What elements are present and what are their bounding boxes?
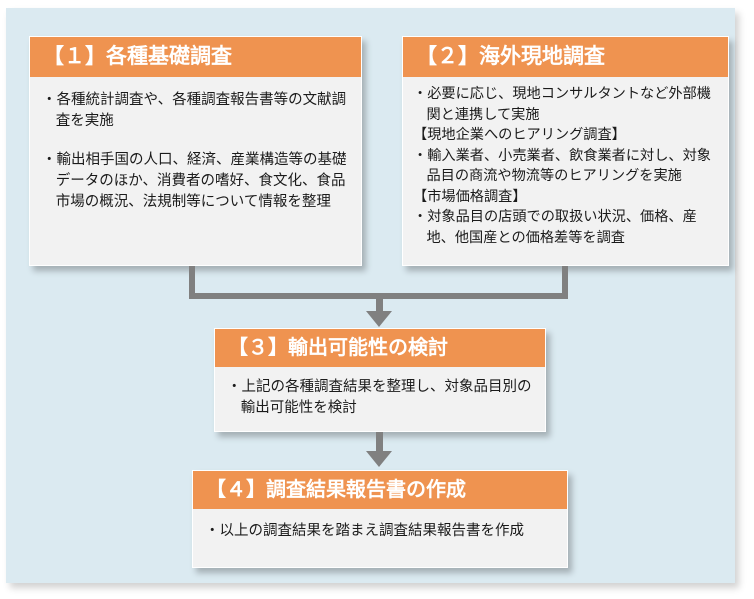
node-box-2-line-1: ・必要に応じ、現地コンサルタントなど外部機関と連携して実施 bbox=[413, 84, 718, 125]
node-box-3-body: ・上記の各種調査結果を整理し、対象品目別の輸出可能性を検討 bbox=[215, 367, 545, 431]
node-box-1-line-2: ・輸出相手国の人口、経済、産業構造等の基礎データのほか、消費者の嗜好、食文化、食… bbox=[42, 150, 349, 213]
node-box-3[interactable]: 【３】輸出可能性の検討 ・上記の各種調査結果を整理し、対象品目別の輸出可能性を検… bbox=[214, 328, 546, 432]
node-box-1-line-1: ・各種統計調査や、各種調査報告書等の文献調査を実施 bbox=[42, 90, 349, 132]
node-box-4[interactable]: 【４】調査結果報告書の作成 ・以上の調査結果を踏まえ調査結果報告書を作成 bbox=[192, 470, 568, 568]
node-box-1-header: 【１】各種基礎調査 bbox=[30, 37, 361, 77]
diagram-root: 【１】各種基礎調査 ・各種統計調査や、各種調査報告書等の文献調査を実施 ・輸出相… bbox=[0, 0, 754, 599]
arrow-down-icon-to-box-4 bbox=[366, 451, 392, 467]
node-box-1-body: ・各種統計調査や、各種調査報告書等の文献調査を実施 ・輸出相手国の人口、経済、産… bbox=[30, 77, 361, 265]
diagram-canvas: 【１】各種基礎調査 ・各種統計調査や、各種調査報告書等の文献調査を実施 ・輸出相… bbox=[6, 8, 735, 583]
node-box-2-line-3: ・輸入業者、小売業者、飲食業者に対し、対象品目の商流や物流等のヒアリングを実施 bbox=[413, 146, 718, 187]
node-box-4-line-1: ・以上の調査結果を踏まえ調査結果報告書を作成 bbox=[205, 521, 555, 542]
node-box-1[interactable]: 【１】各種基礎調査 ・各種統計調査や、各種調査報告書等の文献調査を実施 ・輸出相… bbox=[29, 36, 362, 266]
node-box-4-header: 【４】調査結果報告書の作成 bbox=[193, 471, 567, 509]
node-box-2-body: ・必要に応じ、現地コンサルタントなど外部機関と連携して実施 【現地企業へのヒアリ… bbox=[403, 77, 728, 265]
node-box-3-header: 【３】輸出可能性の検討 bbox=[215, 329, 545, 367]
connector-box3-box4-stem bbox=[376, 432, 383, 452]
node-box-4-body: ・以上の調査結果を踏まえ調査結果報告書を作成 bbox=[193, 509, 567, 567]
node-box-2[interactable]: 【２】海外現地調査 ・必要に応じ、現地コンサルタントなど外部機関と連携して実施 … bbox=[402, 36, 729, 266]
node-box-2-line-2: 【現地企業へのヒアリング調査】 bbox=[413, 125, 718, 146]
node-box-2-header: 【２】海外現地調査 bbox=[403, 37, 728, 77]
node-box-3-line-1: ・上記の各種調査結果を整理し、対象品目別の輸出可能性を検討 bbox=[227, 377, 533, 419]
node-box-2-line-4: 【市場価格調査】 bbox=[413, 187, 718, 208]
arrow-down-icon-to-box-3 bbox=[366, 311, 392, 327]
node-box-2-line-5: ・対象品目の店頭での取扱い状況、価格、産地、他国産との価格差等を調査 bbox=[413, 207, 718, 248]
connector-merge-stem bbox=[376, 293, 383, 313]
